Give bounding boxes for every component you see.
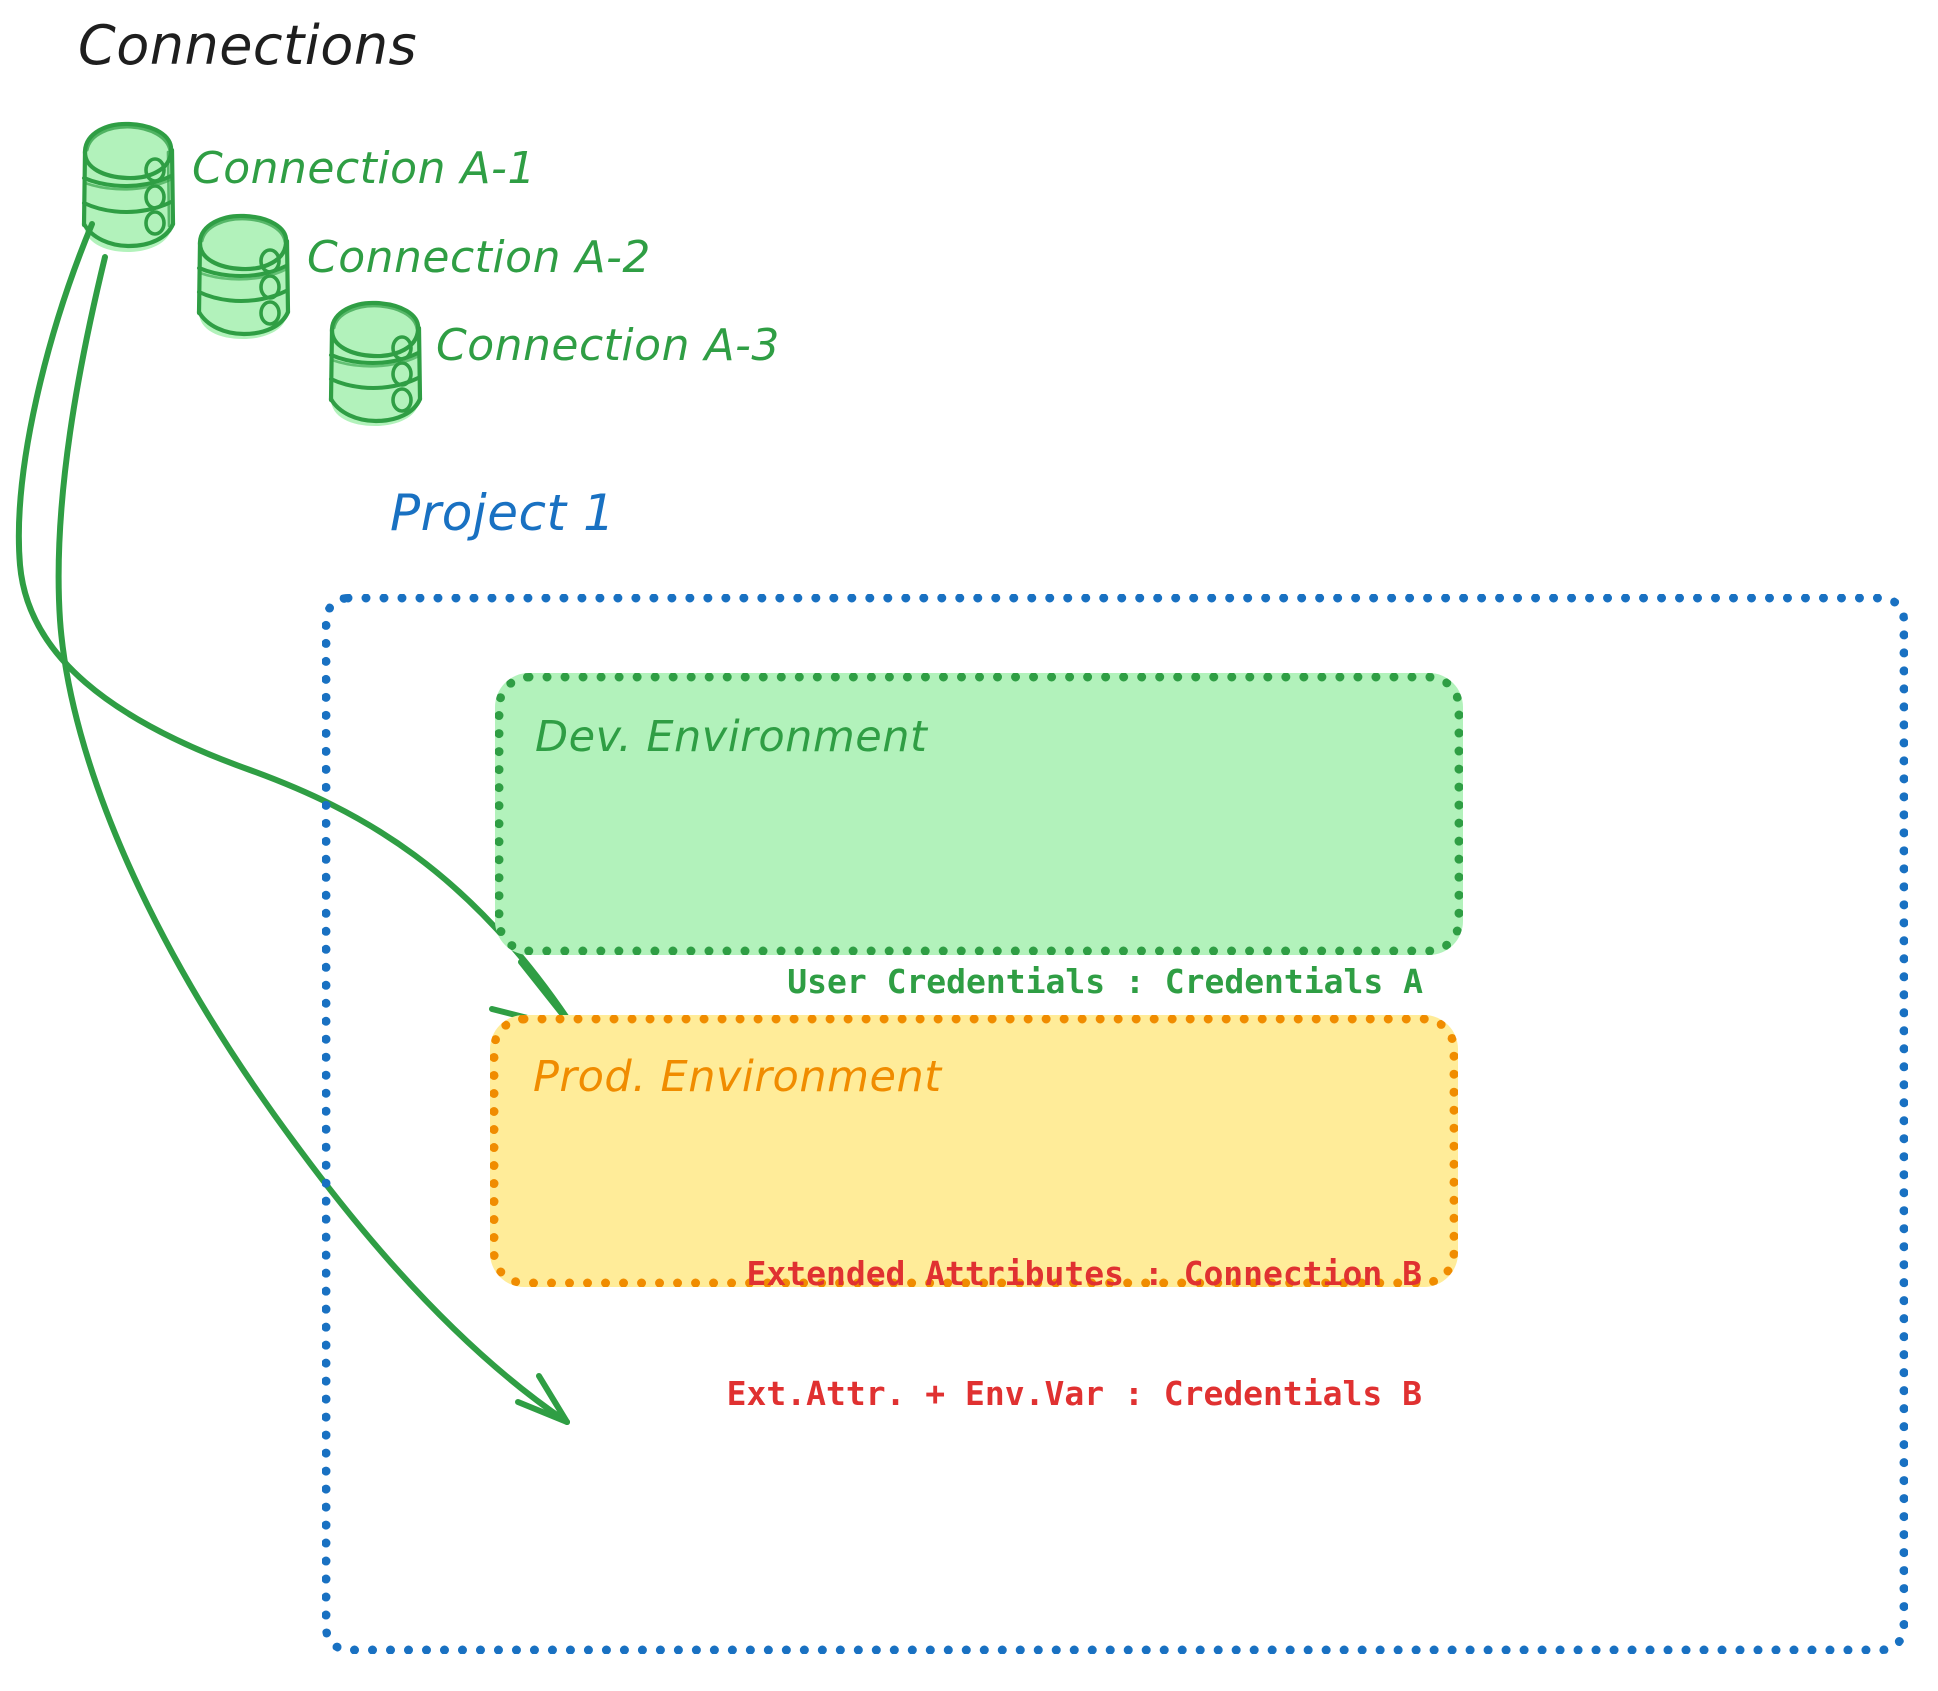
connection-label-a2: Connection A-2 (307, 232, 651, 283)
connection-label-a3: Connection A-3 (436, 320, 780, 371)
prod-environment-title: Prod. Environment (533, 1052, 942, 1102)
dev-environment-title: Dev. Environment (535, 712, 927, 762)
connection-label-a1: Connection A-1 (192, 143, 536, 194)
project-title: Project 1 (390, 484, 615, 542)
dev-detail-line: User Credentials : Credentials A (663, 962, 1423, 1002)
database-icon (199, 216, 288, 339)
prod-detail-line: Ext.Attr. + Env.Var : Credentials B (610, 1374, 1422, 1414)
database-icon (331, 303, 420, 426)
page-title: Connections (78, 14, 417, 77)
prod-environment-details: Extended Attributes : Connection B Ext.A… (610, 1173, 1422, 1495)
diagram-canvas: Connections Connection A-1 Connection A-… (0, 0, 1938, 1691)
prod-detail-line: Extended Attributes : Connection B (610, 1254, 1422, 1294)
database-icon (84, 124, 173, 252)
